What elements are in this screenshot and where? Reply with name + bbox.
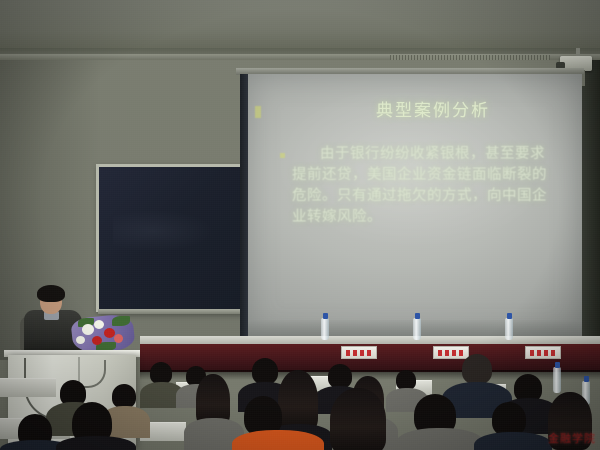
podium-seam — [78, 357, 80, 450]
name-card-text — [438, 350, 464, 356]
name-card — [433, 346, 469, 359]
water-bottle — [321, 318, 329, 340]
desk-row — [396, 380, 432, 395]
name-card — [525, 346, 561, 359]
audience-shoulders — [386, 388, 428, 412]
audience-head — [330, 388, 386, 450]
blackboard-smudge — [113, 210, 214, 253]
bouquet-flower — [94, 320, 104, 329]
blackboard — [96, 164, 246, 312]
name-card-text — [346, 350, 372, 356]
water-bottle — [582, 381, 590, 405]
watermark: 金融学院 — [548, 430, 596, 446]
audience-shoulders — [184, 418, 244, 450]
slide-title: 典型案例分析 — [308, 96, 558, 121]
desk-row — [140, 422, 186, 441]
audience-shoulders — [442, 382, 512, 418]
audience-shoulders — [314, 386, 364, 414]
bouquet-flower — [76, 336, 85, 344]
audience-head — [492, 402, 526, 436]
audience-shoulders — [474, 432, 552, 450]
water-bottle — [413, 318, 421, 340]
name-card-text — [530, 350, 556, 356]
front-desk-shadow — [140, 370, 600, 380]
water-bottle — [553, 367, 561, 393]
audience-head — [352, 376, 384, 424]
audience-head — [244, 396, 282, 436]
slide-title-bullet-icon — [255, 106, 261, 118]
water-bottle — [505, 318, 513, 340]
desk-row — [466, 384, 506, 399]
bouquet-flower — [82, 324, 94, 335]
slide-body-bullet-icon — [280, 153, 285, 158]
upper-wall — [0, 0, 600, 52]
bouquet-flower — [92, 336, 102, 345]
projected-slide: 典型案例分析 由于银行纷纷收紧银根，甚至要求提前还贷，美国企业资金链面临断裂的危… — [248, 74, 582, 336]
presenter-hair — [37, 285, 65, 302]
audience-head — [414, 394, 456, 436]
name-card — [341, 346, 377, 359]
ceiling-vent-grille-icon — [390, 55, 550, 60]
bouquet-leaf — [112, 316, 130, 326]
audience-shoulders — [176, 384, 218, 408]
slide-body-text: 由于银行纷纷收紧银根，甚至要求提前还贷，美国企业资金链面临断裂的危险。只有通过拖… — [292, 144, 558, 228]
lecture-hall-photo: 典型案例分析 由于银行纷纷收紧银根，甚至要求提前还贷，美国企业资金链面临断裂的危… — [0, 0, 600, 450]
audience-shoulders — [342, 416, 398, 450]
audience-shoulders — [396, 428, 484, 450]
audience-shoulders — [232, 430, 324, 450]
screen-left-edge — [240, 74, 248, 336]
audience-shoulders — [266, 424, 332, 450]
bouquet-flower — [114, 334, 123, 343]
audience-shoulders — [140, 382, 184, 408]
audience-shoulders — [498, 398, 560, 434]
audience-shoulders — [238, 382, 292, 412]
desk-row — [176, 382, 222, 399]
audience-head — [196, 374, 230, 426]
